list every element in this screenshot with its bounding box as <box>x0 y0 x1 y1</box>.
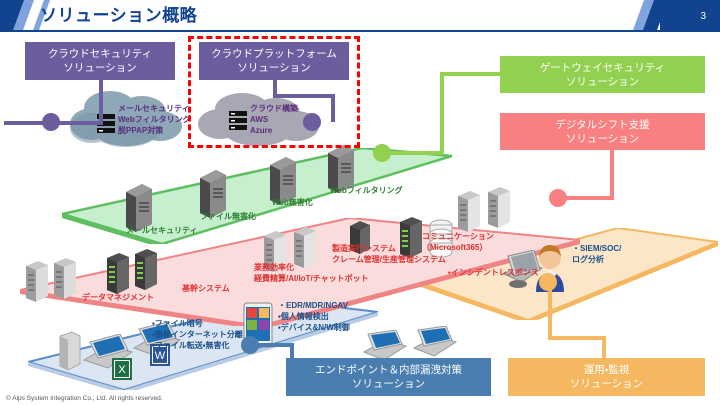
slide-canvas: ソリューション概略 3 <box>0 0 720 405</box>
connector-dot-blue <box>241 336 259 354</box>
connector-green-horizontal-top <box>440 72 502 76</box>
label-edr-mdr-ngav: ・EDR/MDR/NGAV <box>278 300 348 311</box>
box-cloud-security-solution[interactable]: クラウドセキュリティ ソリューション <box>25 42 175 80</box>
box-gateway-line2: ソリューション <box>566 75 639 89</box>
label-communication: コミュニケーション <box>422 231 494 242</box>
server-rack <box>486 184 512 237</box>
box-operations-line2: ソリューション <box>570 377 643 391</box>
label-expense-ai-iot: 経費精算/AI/IoT/チャットボット <box>254 273 369 284</box>
label-file-transfer-sanitize: ・ファイル転送・無害化 <box>152 340 229 351</box>
connector-pink-horizontal <box>560 196 614 200</box>
cloud-left-label-2: Webフィルタリング <box>118 115 191 126</box>
label-personal-info-detection: ・個人情報検出 <box>278 311 329 322</box>
label-business-efficiency: 業務効率化 <box>254 262 294 273</box>
header-rule <box>0 30 720 32</box>
label-file-encryption: ・ファイル暗号 <box>152 318 203 329</box>
connector-green-vertical <box>440 72 444 155</box>
box-operations-solution[interactable]: 運用・監視 ソリューション <box>508 358 705 396</box>
label-core-system: 基幹システム <box>182 283 230 294</box>
label-microsoft365: （Microsoft365） <box>422 242 487 253</box>
box-endpoint-line2: ソリューション <box>352 377 425 391</box>
box-cloud-platform-line2: ソリューション <box>237 61 310 75</box>
page-number: 3 <box>700 11 706 22</box>
connector-dot-orange <box>539 273 557 291</box>
connector-pink-vertical <box>610 150 614 200</box>
box-endpoint-line1: エンドポイント＆内部漏洩対策 <box>315 363 462 377</box>
server-rack <box>24 258 50 311</box>
connector-dot-purple-left <box>42 113 60 131</box>
label-data-management: データマネジメント <box>82 292 154 303</box>
box-operations-line1: 運用・監視 <box>584 363 630 377</box>
connector-dot-pink <box>549 189 567 207</box>
label-incident-response: ・インシデントレスポンス <box>448 267 539 278</box>
box-gateway-line1: ゲートウェイセキュリティ <box>540 61 665 75</box>
slab-green <box>62 148 452 244</box>
box-cloud-platform-solution[interactable]: クラウドプラットフォーム ソリューション <box>199 42 349 80</box>
connector-purple-vertical-left <box>99 80 103 125</box>
label-siem-soc: ・SIEM/SOC/ <box>572 243 621 254</box>
label-mes: 製造実行システム <box>332 243 396 254</box>
label-web-sanitize: Web無害化 <box>272 197 313 208</box>
box-digital-line2: ソリューション <box>566 132 639 146</box>
box-cloud-security-line2: ソリューション <box>63 61 136 75</box>
box-digital-shift-solution[interactable]: デジタルシフト支援 ソリューション <box>500 113 705 150</box>
label-file-sanitize: ファイル無害化 <box>200 211 256 222</box>
label-web-filtering: Webフィルタリング <box>330 185 403 196</box>
server-rack <box>292 224 318 277</box>
label-device-nw-control: ・デバイス&N/W制御 <box>278 322 350 333</box>
connector-dot-green <box>373 144 391 162</box>
label-mail-security: メールセキュリティ <box>126 225 198 236</box>
label-claim-production-mgmt: クレーム管理/生産管理システム <box>332 254 446 265</box>
footer-copyright: © Alps System Integration Co., Ltd. All … <box>6 395 163 402</box>
label-internet-separation: ・簡易インターネット分離 <box>152 329 243 340</box>
box-cloud-platform-line1: クラウドプラットフォーム <box>211 47 337 61</box>
box-digital-line1: デジタルシフト支援 <box>555 118 649 132</box>
excel-file-icon: X <box>112 358 132 385</box>
label-log-analysis: ログ分析 <box>572 254 604 265</box>
connector-green-horizontal-bottom <box>383 151 443 155</box>
header-right-block <box>660 0 720 30</box>
connector-orange-horizontal <box>548 336 606 340</box>
cloud-left-label-3: 脱PPAP対策 <box>118 126 163 137</box>
box-gateway-security-solution[interactable]: ゲートウェイセキュリティ ソリューション <box>500 56 705 93</box>
svg-text:W: W <box>155 350 166 362</box>
server-rack <box>52 255 78 308</box>
box-cloud-security-line1: クラウドセキュリティ <box>48 47 152 61</box>
cloud-left-label-1: メールセキュリティ <box>118 104 190 115</box>
connector-orange-vertical-bottom <box>602 336 606 360</box>
box-endpoint-solution[interactable]: エンドポイント＆内部漏洩対策 ソリューション <box>286 358 491 396</box>
svg-text:X: X <box>118 364 126 376</box>
page-title: ソリューション概略 <box>40 4 197 28</box>
